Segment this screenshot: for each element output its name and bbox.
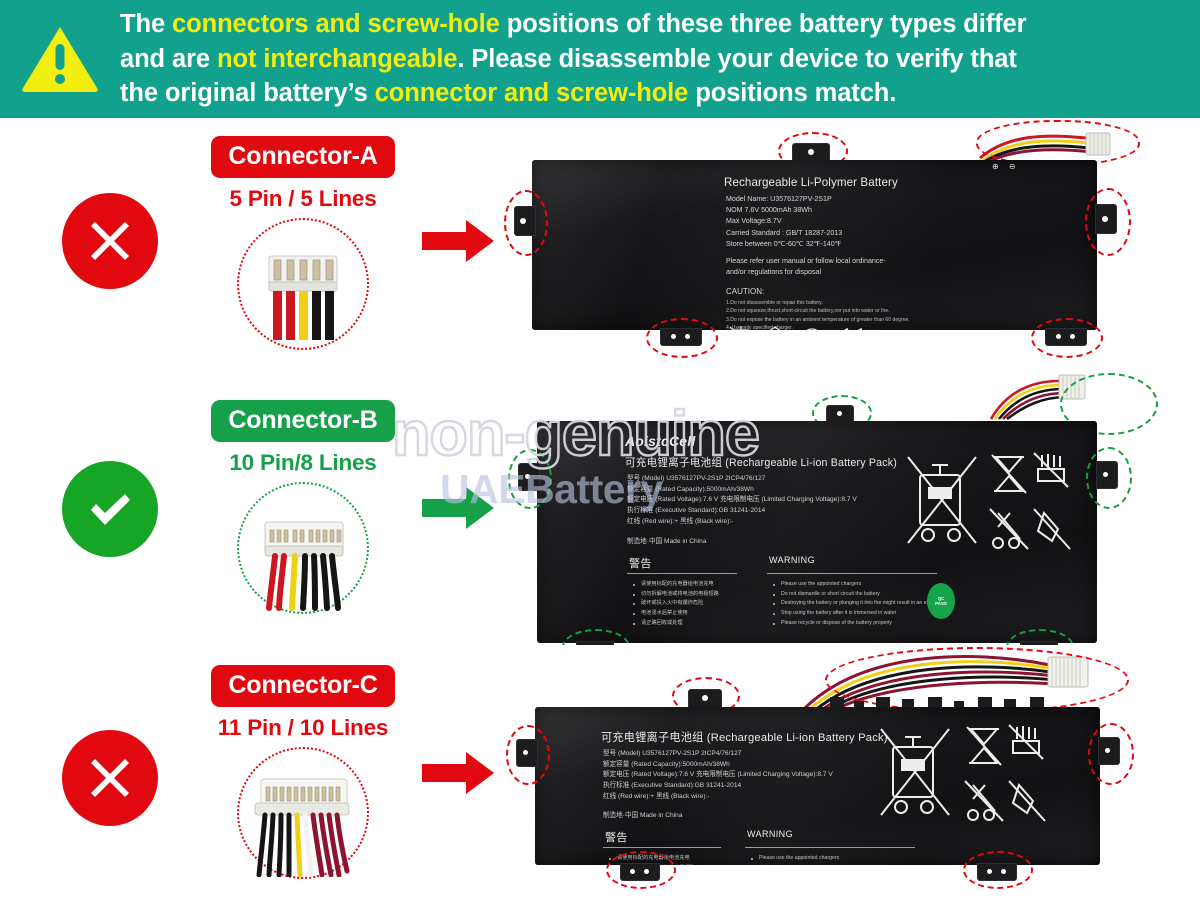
banner-line: the original battery’s connector and scr… [120, 76, 1166, 111]
banner-line: The connectors and screw-hole positions … [120, 7, 1166, 42]
battery-b-warning-cn-heading: 警告 [629, 555, 652, 571]
banner-plain: positions of these three battery types d… [500, 10, 1027, 38]
battery-warning-en-item: Destroying the battery or plunging it in… [773, 599, 946, 609]
banner-plain: . Please disassemble your device to veri… [457, 45, 1016, 73]
connector-b-badge: Connector-B [211, 400, 394, 442]
battery-a-body: Rechargeable Li-Polymer Battery Model Na… [532, 160, 1097, 330]
battery-spec-line: Model Name: U3576127PV-2S1P [726, 194, 842, 205]
battery-b-specs: 型号 (Model) U3576127PV-2S1P 2ICP4/76/127额… [627, 474, 857, 527]
banner-text: The connectors and screw-hole positions … [120, 7, 1200, 111]
battery-a-caution-heading: CAUTION: [726, 286, 764, 299]
connector-5pin-photo [237, 218, 369, 350]
battery-b-warning-en-heading: WARNING [769, 555, 815, 565]
highlight-circle-right [1088, 723, 1134, 785]
battery-b-warning-en-list: Please use the appointed chargersDo not … [773, 580, 946, 628]
battery-spec-line: 额定容量 (Rated Capacity):5000mAh/38Wh [603, 760, 833, 771]
connector-a-badge: Connector-A [211, 136, 394, 178]
banner-plain: positions match. [688, 79, 896, 107]
battery-c-title: 可充电锂离子电池组 (Rechargeable Li-ion Battery P… [601, 729, 888, 745]
highlight-circle-right [1086, 447, 1132, 509]
connector-b-pins: 10 Pin/8 Lines [193, 450, 413, 476]
banner-highlight: connector and screw-hole [375, 79, 689, 107]
battery-spec-line: 执行标准 (Executive Standard):GB 31241-2014 [603, 781, 833, 792]
qc-pass-badge: QC PASS [927, 583, 955, 619]
highlight-circle-left [506, 725, 550, 785]
battery-spec-line: 额定电压 (Rated Voltage):7.6 V 充电限制电压 (Limit… [603, 770, 833, 781]
warning-triangle-icon [21, 24, 99, 94]
highlight-circle-right [1085, 188, 1131, 256]
battery-connector-a-photo: Rechargeable Li-Polymer Battery Model Na… [500, 118, 1200, 373]
battery-a-specs: Model Name: U3576127PV-2S1PNOM 7.6V 5000… [726, 194, 842, 250]
battery-disposal-line: and/or regulations for disposal [726, 267, 886, 278]
highlight-circle-bottom-left [606, 851, 676, 889]
battery-c-warning-en-list: Please use the appointed chargersDo not … [751, 854, 924, 865]
cross-mark-icon [62, 193, 158, 289]
right-arrow-icon [422, 218, 494, 264]
compliance-pictograms [902, 451, 1082, 581]
battery-a-disposal: Please refer user manual or follow local… [726, 256, 886, 278]
battery-spec-line: 红线 (Red wire):+ 黑线 (Black wire):- [627, 517, 857, 528]
connector-a-pins: 5 Pin / 5 Lines [193, 186, 413, 212]
battery-disposal-line: Please refer user manual or follow local… [726, 256, 886, 267]
battery-b-title: 可充电锂离子电池组 (Rechargeable Li-ion Battery P… [625, 455, 897, 470]
cross-mark-icon [62, 730, 158, 826]
battery-a-title: Rechargeable Li-Polymer Battery [724, 176, 898, 189]
warning-banner: The connectors and screw-hole positions … [0, 0, 1200, 118]
battery-connector-c-photo: 可充电锂离子电池组 (Rechargeable Li-ion Battery P… [500, 645, 1200, 900]
battery-spec-line: 型号 (Model) U3576127PV-2S1P 2ICP4/76/127 [627, 474, 857, 485]
battery-b-warning-cn-list: 请使用标配的充电器给电池充电切勿拆解电池或将电池的电极短路破坏或投入火中有爆炸危… [633, 580, 719, 628]
battery-connector-b-photo: AoistcCell 可充电锂离子电池组 (Rechargeable Li-io… [500, 373, 1200, 645]
battery-c-specs: 型号 (Model) U3576127PV-2S1P 2ICP4/76/127额… [603, 749, 833, 802]
highlight-circle-left [508, 449, 552, 509]
battery-c-made-in: 制造地·中国 Made in China [603, 811, 683, 822]
battery-warning-en-item: Do not dismantle or short circuit the ba… [751, 864, 924, 865]
banner-highlight: connectors and screw-hole [172, 10, 500, 38]
battery-c-body: 可充电锂离子电池组 (Rechargeable Li-ion Battery P… [535, 707, 1100, 865]
check-mark-icon [62, 461, 158, 557]
battery-c-warning-en-heading: WARNING [747, 829, 793, 839]
right-arrow-icon [422, 750, 494, 796]
connector-a-column: Connector-A 5 Pin / 5 Lines [193, 136, 413, 350]
battery-a-polarity: ⊕ ⊖ [992, 162, 1020, 171]
compliance-pictograms [875, 723, 1060, 848]
battery-warning-en-item: Please recycle or dispose of the battery… [773, 619, 946, 629]
section-connector-c: Connector-C 11 Pin / 10 Lines [0, 645, 1200, 900]
connector-10pin-photo [237, 482, 369, 614]
battery-b-brand: AoistcCell [625, 433, 695, 449]
battery-caution-line: 3.Do not expose the battery in an ambien… [726, 316, 910, 324]
battery-warning-en-item: Do not dismantle or short circuit the ba… [773, 590, 946, 600]
highlight-circle-bottom-right [963, 851, 1033, 889]
battery-spec-line: 型号 (Model) U3576127PV-2S1P 2ICP4/76/127 [603, 749, 833, 760]
battery-spec-line: NOM 7.6V 5000mAh 38Wh [726, 205, 842, 216]
highlight-circle-bottom-left [646, 318, 718, 358]
connector-c-column: Connector-C 11 Pin / 10 Lines [193, 665, 413, 879]
battery-b-made-in: 制造地·中国 Made in China [627, 537, 707, 548]
battery-spec-line: 额定容量 (Rated Capacity):5000mAh/38Wh [627, 485, 857, 496]
qc-pass-line2: PASS [935, 601, 947, 606]
section-connector-b: Connector-B 10 Pin/8 Lines [0, 373, 1200, 647]
connector-11pin-photo [237, 747, 369, 879]
battery-spec-line: 执行标准 (Executive Standard):GB 31241-2014 [627, 506, 857, 517]
connector-b-column: Connector-B 10 Pin/8 Lines [193, 400, 413, 614]
battery-spec-line: 红线 (Red wire):+ 黑线 (Black wire):- [603, 792, 833, 803]
battery-spec-line: Store between 0℃-60℃ 32℉-140℉ [726, 239, 842, 250]
banner-plain: and are [120, 45, 217, 73]
battery-b-body: AoistcCell 可充电锂离子电池组 (Rechargeable Li-io… [537, 421, 1097, 643]
battery-warning-cn-item: 破坏或投入火中有爆炸危险 [633, 599, 719, 609]
battery-c-warning-cn-heading: 警告 [605, 829, 628, 845]
banner-highlight: not interchangeable [217, 45, 457, 73]
highlight-circle-bottom-right [1031, 318, 1103, 358]
battery-caution-line: 1.Do not disassemble or repair this batt… [726, 299, 910, 307]
banner-plain: the original battery’s [120, 79, 375, 107]
battery-spec-line: Max Voltage:8.7V [726, 216, 842, 227]
banner-plain: The [120, 10, 172, 38]
highlight-circle-left [504, 190, 548, 256]
battery-warning-cn-item: 请正确回收或处理 [633, 619, 719, 629]
battery-warning-en-item: Please use the appointed chargers [751, 854, 924, 864]
battery-warning-cn-item: 请使用标配的充电器给电池充电 [633, 580, 719, 590]
battery-warning-cn-item: 切勿拆解电池或将电池的电极短路 [633, 590, 719, 600]
banner-line: and are not interchangeable. Please disa… [120, 42, 1166, 77]
infographic-page: The connectors and screw-hole positions … [0, 0, 1200, 900]
battery-spec-line: 额定电压 (Rated Voltage):7.6 V 充电限制电压 (Limit… [627, 495, 857, 506]
connector-c-pins: 11 Pin / 10 Lines [193, 715, 413, 741]
battery-warning-en-item: Stop using the battery after it is immer… [773, 609, 946, 619]
banner-icon-area [0, 0, 120, 118]
battery-warning-en-item: Please use the appointed chargers [773, 580, 946, 590]
battery-caution-line: 2.Do not squeeze,thrust,short-circuit th… [726, 307, 910, 315]
connector-c-badge: Connector-C [211, 665, 394, 707]
battery-warning-cn-item: 电池浸水后禁止使用 [633, 609, 719, 619]
section-connector-a: Connector-A 5 Pin / 5 Lines [0, 118, 1200, 375]
right-arrow-icon [422, 485, 494, 531]
battery-spec-line: Carried Standard : GB/T 18287-2013 [726, 228, 842, 239]
compliance-pictograms: 6 [728, 326, 928, 330]
